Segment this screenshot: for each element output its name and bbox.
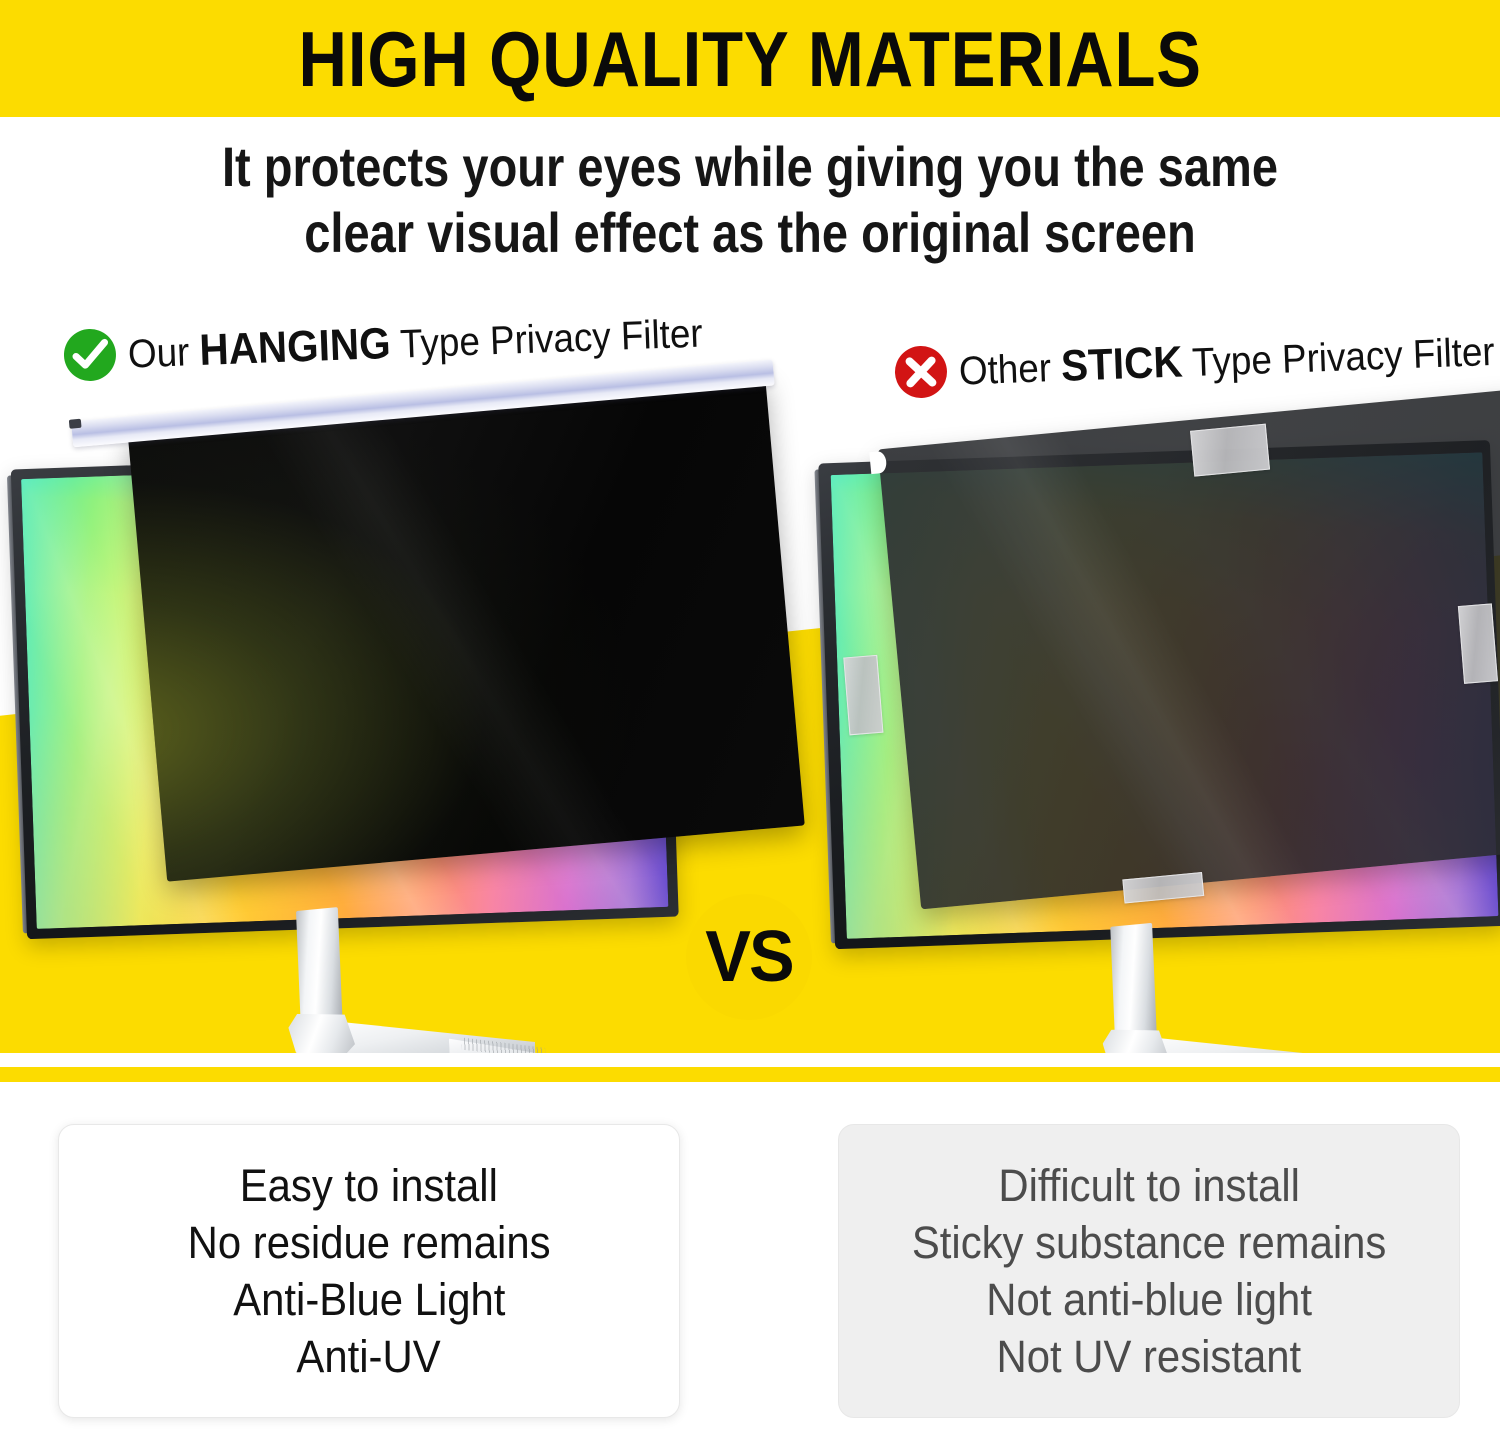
- green-check-circle-icon: [61, 326, 119, 384]
- right-label-strong: STICK: [1060, 337, 1183, 390]
- good-feature-line: Anti-Blue Light: [233, 1271, 505, 1328]
- comparison-stage: Our HANGING Type Privacy Filter Other ST…: [0, 290, 1500, 1053]
- bad-features-card: Difficult to install Sticky substance re…: [838, 1124, 1460, 1418]
- left-label-strong: HANGING: [199, 318, 392, 374]
- right-option-label-text: Other STICK Type Privacy Filter: [958, 328, 1495, 393]
- bad-feature-line: Sticky substance remains: [912, 1214, 1387, 1271]
- stand-foot-right: [1148, 1025, 1350, 1053]
- hanging-privacy-filter-panel: [127, 375, 804, 882]
- hanging-bracket-end-cap-icon: [69, 419, 82, 429]
- monitor-stand-left: [260, 900, 596, 1053]
- adhesive-tape-icon-left: [843, 655, 883, 735]
- header-banner: HIGH QUALITY MATERIALS: [0, 0, 1500, 117]
- monitor-body-left: [0, 396, 719, 1053]
- infographic-page: HIGH QUALITY MATERIALS It protects your …: [0, 0, 1500, 1431]
- adhesive-tape-icon-top: [1190, 424, 1270, 477]
- stick-filter-product: [820, 418, 1500, 1053]
- hanging-filter-product: [8, 410, 708, 1050]
- stand-hub: [1102, 1028, 1170, 1053]
- stick-privacy-filter-panel: [878, 389, 1500, 910]
- good-feature-line: Anti-UV: [297, 1328, 441, 1385]
- subtitle-line-1: It protects your eyes while giving you t…: [120, 134, 1380, 200]
- left-label-suffix: Type Privacy Filter: [399, 311, 703, 366]
- adhesive-tape-icon-right: [1458, 603, 1498, 683]
- vs-badge: VS: [686, 894, 812, 1020]
- monitor-stand-right: [1075, 915, 1411, 1053]
- stand-neck: [1110, 923, 1157, 1039]
- good-feature-line: No residue remains: [188, 1214, 551, 1271]
- subtitle-block: It protects your eyes while giving you t…: [0, 134, 1500, 266]
- red-cross-circle-icon: [892, 343, 950, 401]
- right-option-label: Other STICK Type Privacy Filter: [892, 321, 1500, 401]
- left-option-label-text: Our HANGING Type Privacy Filter: [127, 310, 703, 376]
- page-title: HIGH QUALITY MATERIALS: [298, 20, 1201, 98]
- vs-label: VS: [705, 921, 792, 993]
- stand-neck: [296, 907, 343, 1023]
- yellow-divider-stripe: [0, 1067, 1500, 1082]
- subtitle-line-2: clear visual effect as the original scre…: [120, 200, 1380, 266]
- feature-cards: Easy to install No residue remains Anti-…: [0, 1124, 1500, 1431]
- monitor-body-right: [809, 404, 1500, 1053]
- bad-feature-line: Difficult to install: [998, 1157, 1300, 1214]
- right-label-prefix: Other: [958, 346, 1052, 393]
- bad-feature-line: Not anti-blue light: [986, 1271, 1312, 1328]
- good-features-card: Easy to install No residue remains Anti-…: [58, 1124, 680, 1418]
- left-label-prefix: Our: [127, 330, 190, 376]
- bad-feature-line: Not UV resistant: [997, 1328, 1302, 1385]
- stand-hub: [288, 1012, 356, 1053]
- right-label-suffix: Type Privacy Filter: [1191, 329, 1495, 384]
- good-feature-line: Easy to install: [240, 1157, 498, 1214]
